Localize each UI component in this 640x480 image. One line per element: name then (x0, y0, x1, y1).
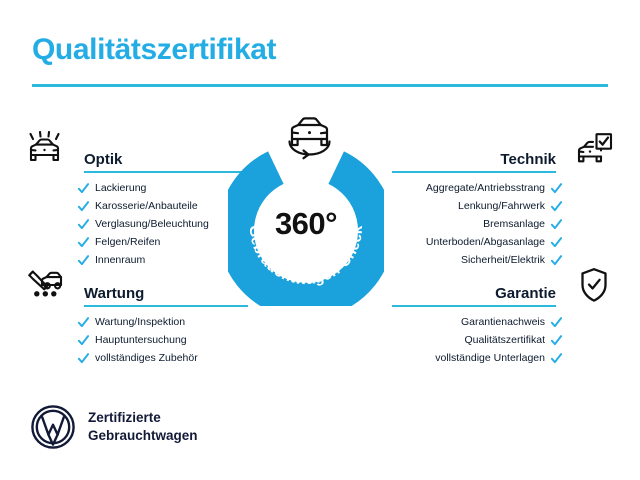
check-icon (551, 219, 562, 230)
check-icon (551, 353, 562, 364)
check-icon (78, 219, 89, 230)
section-divider-optik (84, 171, 248, 173)
section-title-wartung: Wartung (70, 286, 248, 306)
list-item: Aggregate/Antriebsstrang (392, 183, 562, 194)
check-list-wartung: Wartung/Inspektion Hauptuntersuchung vol… (22, 317, 248, 364)
list-item-label: Lenkung/Fahrwerk (458, 201, 545, 212)
check-icon (78, 183, 89, 194)
check-icon (78, 201, 89, 212)
section-garantie: Garantie Garantienachweis Qualitätszerti… (392, 262, 618, 371)
section-technik: Technik Aggregate/Antriebsstrang Lenkung… (392, 128, 618, 273)
page-title: Qualitätszertifikat (32, 33, 276, 67)
list-item: Wartung/Inspektion (78, 317, 248, 328)
section-divider-wartung (84, 305, 248, 307)
list-item: Hauptuntersuchung (78, 335, 248, 346)
list-item-label: Karosserie/Anbauteile (95, 201, 198, 212)
list-item: Lenkung/Fahrwerk (392, 201, 562, 212)
car-checkbox-icon (570, 130, 618, 174)
vw-label-line1: Zertifizierte (88, 409, 198, 427)
shield-check-icon (570, 264, 618, 308)
vw-certified-label: Zertifizierte Gebrauchtwagen (88, 409, 198, 444)
list-item: Felgen/Reifen (78, 237, 248, 248)
badge-degrees-label: 360° (228, 206, 384, 242)
list-item: Karosserie/Anbauteile (78, 201, 248, 212)
check-icon (551, 237, 562, 248)
list-item: Verglasung/Beleuchtung (78, 219, 248, 230)
list-item-label: Garantienachweis (461, 317, 545, 328)
list-item: Qualitätszertifikat (392, 335, 562, 346)
section-optik: Optik Lackierung Karosserie/Anbauteile V… (22, 128, 248, 273)
header-divider (32, 84, 608, 87)
list-item-label: Verglasung/Beleuchtung (95, 219, 209, 230)
list-item-label: vollständiges Zubehör (95, 353, 198, 364)
car-wrench-icon (22, 264, 70, 308)
check-icon (551, 183, 562, 194)
list-item: Bremsanlage (392, 219, 562, 230)
list-item-label: Felgen/Reifen (95, 237, 160, 248)
section-wartung: Wartung Wartung/Inspektion Hauptuntersuc… (22, 262, 248, 371)
list-item: Lackierung (78, 183, 248, 194)
list-item-label: Unterboden/Abgasanlage (426, 237, 545, 248)
section-divider-technik (392, 171, 556, 173)
section-title-garantie: Garantie (392, 286, 570, 306)
list-item-label: Hauptuntersuchung (95, 335, 187, 346)
check-icon (78, 317, 89, 328)
check-list-technik: Aggregate/Antriebsstrang Lenkung/Fahrwer… (392, 183, 618, 266)
list-item: Garantienachweis (392, 317, 562, 328)
list-item-label: vollständige Unterlagen (435, 353, 545, 364)
check-icon (551, 201, 562, 212)
list-item: Unterboden/Abgasanlage (392, 237, 562, 248)
section-title-optik: Optik (70, 152, 248, 172)
car-rotation-icon (276, 110, 338, 164)
certificate-page: Qualitätszertifikat (0, 0, 640, 480)
check-list-optik: Lackierung Karosserie/Anbauteile Verglas… (22, 183, 248, 266)
list-item-label: Aggregate/Antriebsstrang (426, 183, 545, 194)
car-shine-icon (22, 130, 70, 174)
section-title-technik: Technik (392, 152, 570, 172)
check-icon (78, 335, 89, 346)
check-list-garantie: Garantienachweis Qualitätszertifikat vol… (392, 317, 618, 364)
list-item-label: Qualitätszertifikat (464, 335, 545, 346)
check-icon (551, 335, 562, 346)
list-item: vollständiges Zubehör (78, 353, 248, 364)
list-item-label: Bremsanlage (483, 219, 545, 230)
list-item: vollständige Unterlagen (392, 353, 562, 364)
list-item-label: Lackierung (95, 183, 146, 194)
badge-360-gebrauchtwagen-check: Gebrauchtwagen-Check 360° (228, 150, 384, 306)
vw-logo-icon (30, 404, 76, 450)
vw-certified-footer: Zertifizierte Gebrauchtwagen (30, 404, 198, 450)
check-icon (78, 237, 89, 248)
check-icon (78, 353, 89, 364)
vw-label-line2: Gebrauchtwagen (88, 427, 198, 445)
check-icon (551, 317, 562, 328)
list-item-label: Wartung/Inspektion (95, 317, 185, 328)
section-divider-garantie (392, 305, 556, 307)
